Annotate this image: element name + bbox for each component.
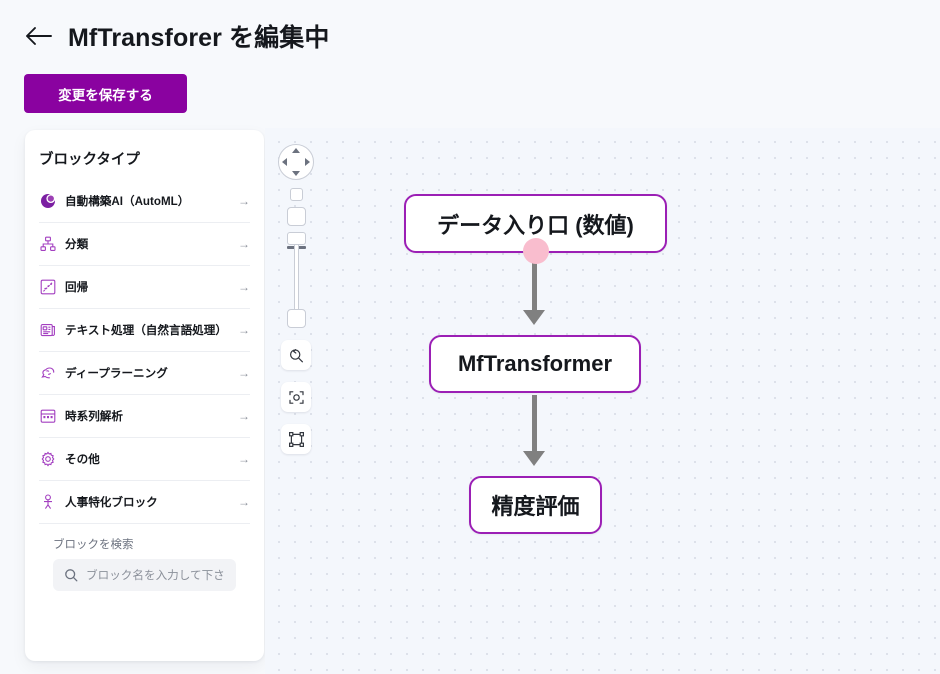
sidebar-item-label: テキスト処理（自然言語処理） [65,322,227,338]
selection-box-icon[interactable] [281,424,311,454]
node-data-input[interactable]: データ入り口 (数値) [404,194,667,253]
pan-right-icon[interactable] [305,158,310,166]
node-label: MfTransformer [458,351,612,377]
zoom-slider-track[interactable] [294,245,299,309]
chevron-right-icon: → [236,366,250,380]
sidebar-item-label: 自動構築AI（AutoML） [65,193,227,209]
zoom-reset-button[interactable] [290,188,303,201]
sidebar-item-hr-blocks[interactable]: 人事特化ブロック → [39,480,250,523]
canvas-controls [278,144,314,454]
page-title: MfTransforer を編集中 [68,18,329,54]
node-label: データ入り口 (数値) [437,208,634,240]
zoom-out-button[interactable] [287,309,306,328]
edge-arrow-transformer [523,310,545,325]
sidebar-item-automl[interactable]: 自動構築AI（AutoML） → [39,179,250,222]
chevron-right-icon: → [236,452,250,466]
sidebar-item-classification[interactable]: 分類 → [39,222,250,265]
sidebar-item-label: ディープラーニング [65,365,227,381]
pan-direction-pad[interactable] [278,144,314,180]
back-arrow-icon[interactable] [24,21,54,51]
sidebar-item-label: その他 [65,451,227,467]
page-header: MfTransforer を編集中 [24,18,329,54]
chevron-right-icon: → [236,237,250,251]
node-mftransformer[interactable]: MfTransformer [429,335,641,393]
app-root: MfTransforer を編集中 変更を保存する ブロックタイプ 自動構築AI… [0,0,940,674]
sidebar-item-deep-learning[interactable]: ディープラーニング → [39,351,250,394]
calendar-grid-icon [39,408,56,425]
search-icon [64,568,78,582]
hierarchy-icon [39,236,56,253]
sidebar-item-other[interactable]: その他 → [39,437,250,480]
chevron-right-icon: → [236,495,250,509]
flow-canvas[interactable]: データ入り口 (数値) MfTransformer 精度評価 [265,128,940,674]
sidebar-item-label: 回帰 [65,279,227,295]
node-output-handle[interactable] [523,238,549,264]
sidebar-item-label: 時系列解析 [65,408,227,424]
sidebar-item-text-processing[interactable]: テキスト処理（自然言語処理） → [39,308,250,351]
sidebar-item-label: 人事特化ブロック [65,494,227,510]
sidebar-item-time-series[interactable]: 時系列解析 → [39,394,250,437]
scatter-chart-icon [39,279,56,296]
search-box[interactable] [53,559,236,591]
node-label: 精度評価 [491,489,579,521]
pan-left-icon[interactable] [282,158,287,166]
edge-transformer-to-eval [532,395,537,453]
search-label: ブロックを検索 [53,524,236,559]
chevron-right-icon: → [236,194,250,208]
sidebar-item-label: 分類 [65,236,227,252]
pan-down-icon[interactable] [292,171,300,176]
save-button[interactable]: 変更を保存する [24,74,187,113]
brain-icon [39,365,56,382]
search-input[interactable] [86,569,225,582]
zoom-in-button[interactable] [287,207,306,226]
sidebar-title: ブロックタイプ [25,148,264,179]
zoom-slider[interactable] [287,188,306,328]
person-icon [39,494,56,511]
block-search-section: ブロックを検索 [39,523,250,591]
automl-moon-icon [39,192,56,209]
reset-zoom-icon[interactable] [281,340,311,370]
newspaper-icon [39,322,56,339]
chevron-right-icon: → [236,280,250,294]
pan-up-icon[interactable] [292,148,300,153]
sidebar-item-regression[interactable]: 回帰 → [39,265,250,308]
chevron-right-icon: → [236,409,250,423]
node-accuracy-eval[interactable]: 精度評価 [469,476,602,534]
block-type-list: 自動構築AI（AutoML） → 分類 → [25,179,264,523]
gear-icon [39,451,56,468]
zoom-slider-handle[interactable] [287,232,306,245]
fit-to-view-icon[interactable] [281,382,311,412]
chevron-right-icon: → [236,323,250,337]
block-type-sidebar: ブロックタイプ 自動構築AI（AutoML） → [25,130,264,661]
edge-arrow-eval [523,451,545,466]
